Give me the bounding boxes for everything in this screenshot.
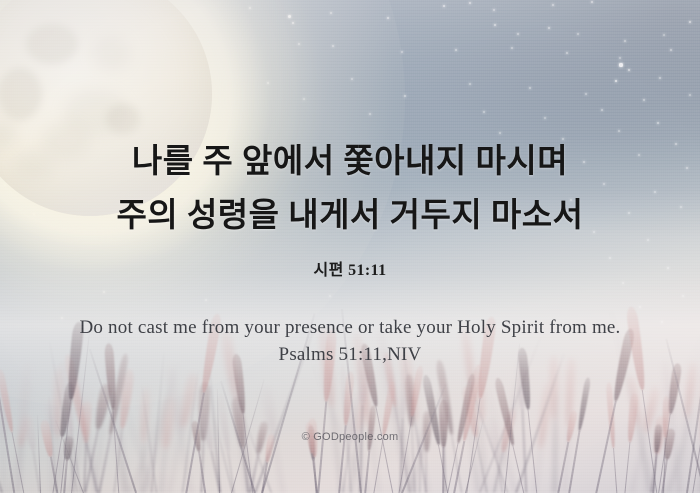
scripture-card: 나를 주 앞에서 쫓아내지 마시며 주의 성령을 내게서 거두지 마소서 시편 … xyxy=(0,0,700,493)
english-verse-reference: Psalms 51:11,NIV xyxy=(0,345,700,364)
english-verse-line-1: Do not cast me from your presence or tak… xyxy=(0,318,700,337)
copyright-watermark: © GODpeople.com xyxy=(0,432,700,443)
verse-text-block: 나를 주 앞에서 쫓아내지 마시며 주의 성령을 내게서 거두지 마소서 시편 … xyxy=(0,0,700,493)
korean-verse-line-1: 나를 주 앞에서 쫓아내지 마시며 xyxy=(0,146,700,179)
korean-verse-reference: 시편 51:11 xyxy=(0,263,700,279)
korean-verse-line-2: 주의 성령을 내게서 거두지 마소서 xyxy=(0,200,700,233)
